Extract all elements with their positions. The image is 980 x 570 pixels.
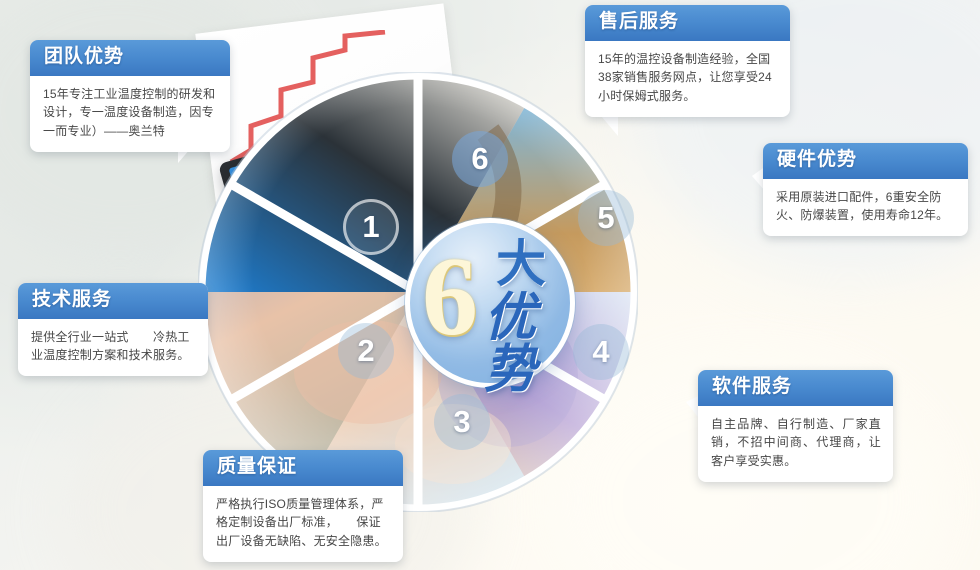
callout-card-software[interactable]: 软件服务 自主品牌、自行制造、厂家直销，不招中间商、代理商，让客户享受实惠。 <box>698 370 893 482</box>
callout-card-team[interactable]: 团队优势 15年专注工业温度控制的研发和设计，专一温度设备制造，因专一而专业）—… <box>30 40 230 152</box>
callout-card-hardware[interactable]: 硬件优势 采用原装进口配件，6重安全防火、防爆装置，使用寿命12年。 <box>763 143 968 236</box>
segment-number-2[interactable]: 2 <box>338 323 394 379</box>
callout-body-hardware: 采用原装进口配件，6重安全防火、防爆装置，使用寿命12年。 <box>763 179 968 236</box>
callout-title-hardware: 硬件优势 <box>763 143 968 179</box>
segment-number-1[interactable]: 1 <box>343 199 399 255</box>
callout-title-software: 软件服务 <box>698 370 893 406</box>
wheel-center-badge: 6 大 优势 <box>405 218 575 388</box>
callout-card-after-sales[interactable]: 售后服务 15年的温控设备制造经验，全国38家销售服务网点，让您享受24小时保姆… <box>585 5 790 117</box>
callout-body-quality: 严格执行ISO质量管理体系，严格定制设备出厂标准， 保证出厂设备无缺陷、无安全隐… <box>203 486 403 562</box>
hub-big-word: 大 <box>496 239 546 289</box>
callout-card-quality[interactable]: 质量保证 严格执行ISO质量管理体系，严格定制设备出厂标准， 保证出厂设备无缺陷… <box>203 450 403 562</box>
callout-title-team: 团队优势 <box>30 40 230 76</box>
callout-title-quality: 质量保证 <box>203 450 403 486</box>
callout-title-technical: 技术服务 <box>18 283 208 319</box>
segment-number-5[interactable]: 5 <box>578 190 634 246</box>
segment-number-3[interactable]: 3 <box>434 394 490 450</box>
callout-card-technical[interactable]: 技术服务 提供全行业一站式 冷热工业温度控制方案和技术服务。 <box>18 283 208 376</box>
infographic-canvas: 6 大 优势 1 2 3 4 5 6 团队优势 15年专注工业温度控制的研发和设… <box>0 0 980 570</box>
callout-body-after-sales: 15年的温控设备制造经验，全国38家销售服务网点，让您享受24小时保姆式服务。 <box>585 41 790 117</box>
hub-sub-word: 优势 <box>484 293 570 397</box>
callout-body-team: 15年专注工业温度控制的研发和设计，专一温度设备制造，因专一而专业）——奥兰特 <box>30 76 230 152</box>
callout-body-software: 自主品牌、自行制造、厂家直销，不招中间商、代理商，让客户享受实惠。 <box>698 406 893 482</box>
callout-title-after-sales: 售后服务 <box>585 5 790 41</box>
hub-number: 6 <box>422 241 478 353</box>
segment-number-4[interactable]: 4 <box>573 324 629 380</box>
segment-number-6[interactable]: 6 <box>452 131 508 187</box>
callout-body-technical: 提供全行业一站式 冷热工业温度控制方案和技术服务。 <box>18 319 208 376</box>
